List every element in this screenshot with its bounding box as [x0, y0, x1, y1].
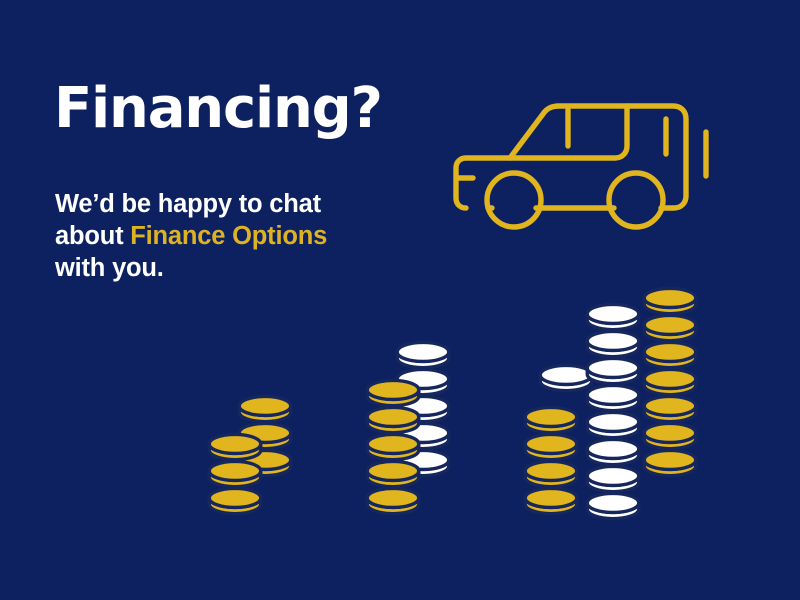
coin-group-small	[209, 396, 291, 513]
promo-banner: Financing? We’d be happy to chat about F…	[0, 0, 800, 600]
body-line-2: about Finance Options	[55, 220, 385, 252]
finance-options-highlight: Finance Options	[130, 222, 327, 250]
coin-group-large	[525, 288, 696, 518]
body-line-2-prefix: about	[55, 222, 130, 250]
page-title: Financing?	[54, 80, 382, 139]
suv-line-art-icon	[440, 72, 740, 232]
growing-coin-stacks-icon	[170, 260, 770, 530]
body-line-1: We’d be happy to chat	[55, 188, 385, 220]
coin-group-medium	[367, 342, 449, 513]
